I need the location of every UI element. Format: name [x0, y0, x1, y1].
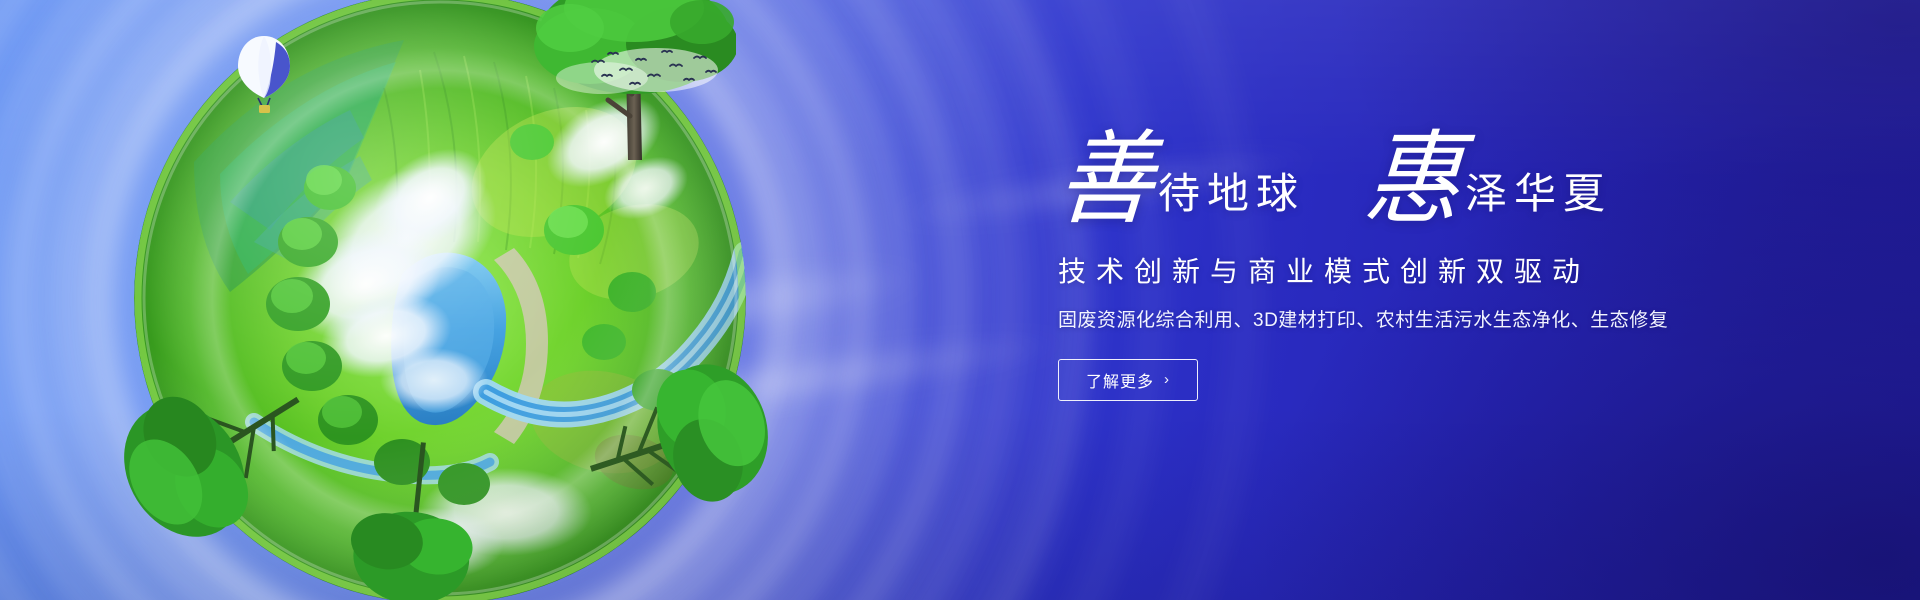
headline-rest-1: 待地球 [1158, 174, 1305, 216]
learn-more-button[interactable]: 了解更多 › [1058, 359, 1198, 401]
hero-banner: 善 待地球 惠 泽华夏 技术创新与商业模式创新双驱动 固废资源化综合利用、3D建… [0, 0, 1920, 600]
rim-tree-bottom [324, 432, 504, 600]
description: 固废资源化综合利用、3D建材打印、农村生活污水生态净化、生态修复 [1058, 308, 1758, 335]
banner-content: 善 待地球 惠 泽华夏 技术创新与商业模式创新双驱动 固废资源化综合利用、3D建… [1058, 132, 1758, 401]
learn-more-label: 了解更多 [1086, 368, 1154, 392]
hot-air-balloon-icon [236, 34, 292, 118]
birds-flock-icon [586, 46, 726, 92]
rim-tree-right [586, 328, 786, 548]
headline: 善 待地球 惠 泽华夏 [1058, 132, 1758, 240]
subtitle: 技术创新与商业模式创新双驱动 [1058, 254, 1758, 290]
headline-lead-char-1: 善 [1054, 129, 1157, 231]
headline-rest-2: 泽华夏 [1465, 174, 1612, 216]
headline-lead-char-2: 惠 [1361, 129, 1464, 231]
chevron-right-icon: › [1164, 372, 1170, 387]
rim-tree-bottom-left [104, 340, 314, 570]
